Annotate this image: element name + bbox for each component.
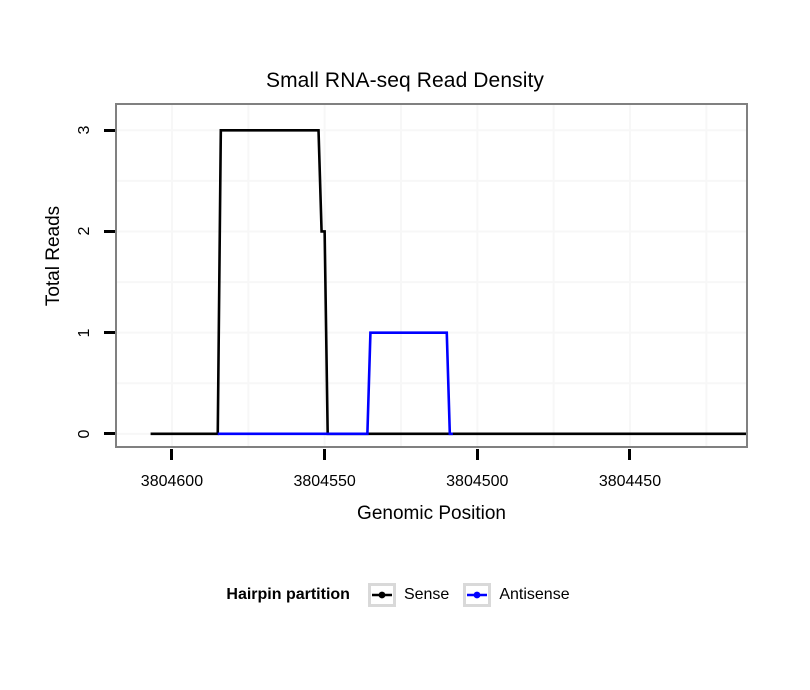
x-tick-mark	[628, 449, 631, 460]
y-axis-title: Total Reads	[43, 176, 65, 336]
plot-panel	[115, 103, 748, 448]
x-tick-mark	[476, 449, 479, 460]
plot-area	[117, 105, 746, 446]
line-point-icon	[368, 583, 396, 607]
line-point-icon	[463, 583, 491, 607]
x-tick-mark	[323, 449, 326, 460]
legend-label: Sense	[404, 586, 449, 604]
y-tick-mark	[104, 230, 115, 233]
legend-label: Antisense	[499, 586, 569, 604]
x-tick-label: 3804550	[265, 473, 385, 491]
x-tick-label: 3804500	[417, 473, 537, 491]
y-tick-mark	[104, 129, 115, 132]
x-tick-label: 3804450	[570, 473, 690, 491]
chart-figure: Small RNA-seq Read Density Total Reads 0…	[0, 0, 810, 690]
y-tick-label: 3	[77, 119, 93, 141]
legend-title: Hairpin partition	[226, 586, 350, 604]
chart-title: Small RNA-seq Read Density	[0, 68, 810, 94]
y-tick-label: 1	[77, 322, 93, 344]
x-tick-label: 3804600	[112, 473, 232, 491]
y-tick-mark	[104, 432, 115, 435]
x-axis-title: Genomic Position	[115, 503, 748, 525]
y-tick-label: 0	[77, 423, 93, 445]
x-tick-mark	[170, 449, 173, 460]
legend: Hairpin partition SenseAntisense	[0, 583, 810, 607]
y-tick-mark	[104, 331, 115, 334]
legend-item-sense[interactable]: Sense	[368, 583, 449, 607]
legend-item-antisense[interactable]: Antisense	[463, 583, 569, 607]
y-tick-label: 2	[77, 220, 93, 242]
